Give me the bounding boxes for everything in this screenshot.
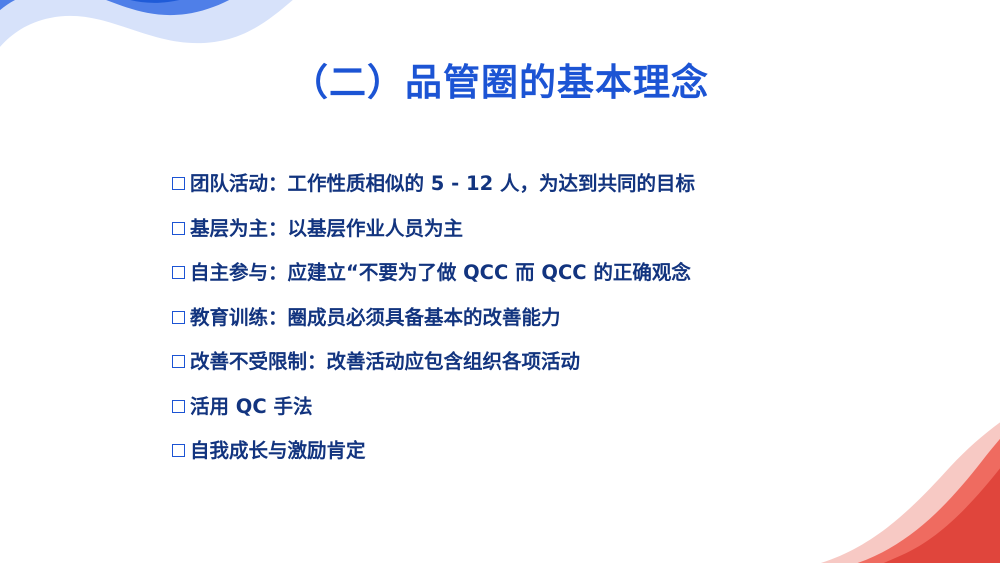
list-item-label: 教育训练：圈成员必须具备基本的改善能力 (190, 306, 561, 330)
square-bullet-icon (172, 266, 185, 279)
bullet-list: 团队活动：工作性质相似的 5 - 12 人，为达到共同的目标 基层为主：以基层作… (172, 172, 872, 484)
list-item-label: 基层为主：以基层作业人员为主 (190, 217, 463, 241)
list-item: 改善不受限制：改善活动应包含组织各项活动 (172, 350, 872, 376)
list-item-label: 团队活动：工作性质相似的 5 - 12 人，为达到共同的目标 (190, 172, 695, 196)
square-bullet-icon (172, 177, 185, 190)
list-item-label: 自我成长与激励肯定 (190, 439, 366, 463)
list-item-label: 活用 QC 手法 (190, 395, 312, 419)
square-bullet-icon (172, 222, 185, 235)
list-item: 自我成长与激励肯定 (172, 439, 872, 465)
list-item-label: 自主参与：应建立“不要为了做 QCC 而 QCC 的正确观念 (190, 261, 691, 285)
list-item: 基层为主：以基层作业人员为主 (172, 217, 872, 243)
list-item: 活用 QC 手法 (172, 395, 872, 421)
square-bullet-icon (172, 355, 185, 368)
square-bullet-icon (172, 444, 185, 457)
list-item: 教育训练：圈成员必须具备基本的改善能力 (172, 306, 872, 332)
slide-title: （二）品管圈的基本理念 (0, 52, 1000, 106)
square-bullet-icon (172, 400, 185, 413)
list-item: 自主参与：应建立“不要为了做 QCC 而 QCC 的正确观念 (172, 261, 872, 287)
list-item-label: 改善不受限制：改善活动应包含组织各项活动 (190, 350, 580, 374)
list-item: 团队活动：工作性质相似的 5 - 12 人，为达到共同的目标 (172, 172, 872, 198)
slide-canvas: （二）品管圈的基本理念 团队活动：工作性质相似的 5 - 12 人，为达到共同的… (0, 0, 1000, 563)
square-bullet-icon (172, 311, 185, 324)
